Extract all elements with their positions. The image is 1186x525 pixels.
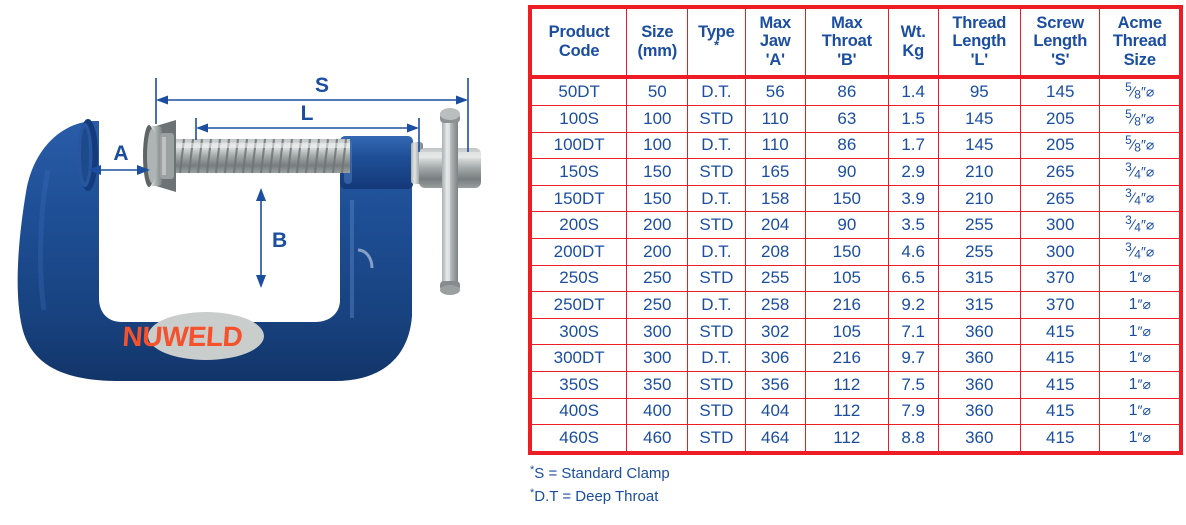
- table-row: 350S350STD3561127.53604151″⌀: [530, 371, 1181, 398]
- cell-product-code: 300S: [530, 318, 627, 345]
- cell-thread-length: 145: [938, 132, 1020, 159]
- cell-max-jaw: 356: [745, 371, 805, 398]
- cell-acme-thread: 3⁄4″⌀: [1100, 212, 1181, 239]
- footnotes: *S = Standard Clamp *D.T = Deep Throat: [530, 462, 950, 509]
- table-row: 200DT200D.T.2081504.62553003⁄4″⌀: [530, 238, 1181, 265]
- cell-max-throat: 90: [805, 212, 888, 239]
- cell-size: 200: [627, 238, 688, 265]
- cell-thread-length: 315: [938, 265, 1020, 292]
- cell-max-jaw: 255: [745, 265, 805, 292]
- cell-max-jaw: 258: [745, 292, 805, 319]
- cell-max-jaw: 404: [745, 398, 805, 425]
- table-row: 150DT150D.T.1581503.92102653⁄4″⌀: [530, 185, 1181, 212]
- cell-weight: 9.7: [888, 345, 938, 372]
- b-arrow-top: [256, 188, 266, 201]
- table-row: 400S400STD4041127.93604151″⌀: [530, 398, 1181, 425]
- acme-value: 5⁄8″⌀: [1125, 81, 1154, 101]
- hdr-line: Thread: [952, 14, 1006, 32]
- cell-screw-length: 265: [1020, 159, 1099, 186]
- hdr-line: 'B': [837, 51, 856, 69]
- cell-size: 250: [627, 292, 688, 319]
- hdr-line: Max: [759, 14, 791, 32]
- cell-screw-length: 300: [1020, 238, 1099, 265]
- cell-max-throat: 86: [805, 132, 888, 159]
- cell-size: 460: [627, 425, 688, 453]
- cell-screw-length: 415: [1020, 371, 1099, 398]
- hdr-line: Size: [641, 23, 673, 41]
- column-header-product-code: Product Code: [530, 7, 627, 77]
- acme-value: 1″⌀: [1129, 430, 1151, 446]
- table-row: 250S250STD2551056.53153701″⌀: [530, 265, 1181, 292]
- hdr-line: 'S': [1051, 51, 1069, 69]
- b-arrow-bottom: [256, 275, 266, 288]
- cell-max-jaw: 302: [745, 318, 805, 345]
- cell-product-code: 250DT: [530, 292, 627, 319]
- cell-acme-thread: 3⁄4″⌀: [1100, 185, 1181, 212]
- cell-max-throat: 86: [805, 77, 888, 105]
- cell-thread-length: 360: [938, 345, 1020, 372]
- cell-weight: 1.5: [888, 106, 938, 133]
- column-header-weight: Wt. Kg: [888, 7, 938, 77]
- cell-max-throat: 216: [805, 345, 888, 372]
- cell-thread-length: 95: [938, 77, 1020, 105]
- hdr-line: Screw: [1036, 14, 1084, 32]
- cell-thread-length: 210: [938, 159, 1020, 186]
- cell-type: D.T.: [688, 345, 745, 372]
- cell-type: D.T.: [688, 238, 745, 265]
- cell-size: 100: [627, 132, 688, 159]
- dim-label-b: B: [272, 229, 287, 252]
- cell-product-code: 300DT: [530, 345, 627, 372]
- cell-type: STD: [688, 106, 745, 133]
- cell-size: 200: [627, 212, 688, 239]
- table-row: 300DT300D.T.3062169.73604151″⌀: [530, 345, 1181, 372]
- cell-screw-length: 415: [1020, 345, 1099, 372]
- cell-acme-thread: 3⁄4″⌀: [1100, 159, 1181, 186]
- cell-max-throat: 105: [805, 265, 888, 292]
- cell-weight: 1.7: [888, 132, 938, 159]
- hdr-line: Max: [831, 14, 863, 32]
- acme-value: 3⁄4″⌀: [1125, 214, 1154, 234]
- hdr-line: Code: [559, 42, 599, 60]
- screw-thread: [158, 139, 350, 173]
- cell-thread-length: 315: [938, 292, 1020, 319]
- hdr-line: Thread: [1113, 32, 1167, 50]
- cell-acme-thread: 5⁄8″⌀: [1100, 77, 1181, 105]
- cell-max-throat: 112: [805, 398, 888, 425]
- cell-max-jaw: 56: [745, 77, 805, 105]
- cell-acme-thread: 1″⌀: [1100, 398, 1181, 425]
- cell-screw-length: 300: [1020, 212, 1099, 239]
- column-header-size: Size (mm): [627, 7, 688, 77]
- acme-value: 1″⌀: [1129, 403, 1151, 419]
- hdr-line: (mm): [638, 42, 678, 60]
- footnote-deep-throat: *D.T = Deep Throat: [530, 485, 950, 508]
- cell-acme-thread: 3⁄4″⌀: [1100, 238, 1181, 265]
- cell-size: 300: [627, 345, 688, 372]
- cell-screw-length: 415: [1020, 425, 1099, 453]
- table-row: 150S150STD165902.92102653⁄4″⌀: [530, 159, 1181, 186]
- cell-weight: 8.8: [888, 425, 938, 453]
- cell-thread-length: 360: [938, 425, 1020, 453]
- cell-size: 50: [627, 77, 688, 105]
- l-arrow-right: [407, 124, 419, 133]
- hdr-line: Size: [1124, 51, 1156, 69]
- cell-thread-length: 210: [938, 185, 1020, 212]
- column-header-max-jaw: Max Jaw 'A': [745, 7, 805, 77]
- cell-max-throat: 63: [805, 106, 888, 133]
- cell-product-code: 400S: [530, 398, 627, 425]
- specification-table: Product Code Size (mm) Type * Max Jaw 'A…: [528, 5, 1183, 455]
- cell-max-jaw: 204: [745, 212, 805, 239]
- cell-acme-thread: 1″⌀: [1100, 345, 1181, 372]
- cell-acme-thread: 1″⌀: [1100, 371, 1181, 398]
- hdr-line: 'A': [766, 51, 785, 69]
- table-row: 200S200STD204903.52553003⁄4″⌀: [530, 212, 1181, 239]
- acme-value: 1″⌀: [1129, 270, 1151, 286]
- cell-size: 150: [627, 185, 688, 212]
- cell-weight: 2.9: [888, 159, 938, 186]
- footnote-text: D.T = Deep Throat: [534, 488, 658, 505]
- cell-thread-length: 360: [938, 318, 1020, 345]
- table-row: 100S100STD110631.51452055⁄8″⌀: [530, 106, 1181, 133]
- cell-type: D.T.: [688, 77, 745, 105]
- cell-acme-thread: 1″⌀: [1100, 425, 1181, 453]
- cell-acme-thread: 5⁄8″⌀: [1100, 106, 1181, 133]
- acme-value: 1″⌀: [1129, 324, 1151, 340]
- cell-max-jaw: 158: [745, 185, 805, 212]
- acme-value: 5⁄8″⌀: [1125, 108, 1154, 128]
- table-row: 300S300STD3021057.13604151″⌀: [530, 318, 1181, 345]
- cell-acme-thread: 5⁄8″⌀: [1100, 132, 1181, 159]
- cell-size: 150: [627, 159, 688, 186]
- cell-screw-length: 205: [1020, 132, 1099, 159]
- cell-product-code: 200DT: [530, 238, 627, 265]
- cell-product-code: 150S: [530, 159, 627, 186]
- cell-type: STD: [688, 425, 745, 453]
- cell-size: 250: [627, 265, 688, 292]
- cell-screw-length: 415: [1020, 318, 1099, 345]
- hdr-line: Acme: [1118, 14, 1162, 32]
- cell-weight: 9.2: [888, 292, 938, 319]
- cell-screw-length: 415: [1020, 398, 1099, 425]
- column-header-type: Type *: [688, 7, 745, 77]
- fixed-jaw-pad: [78, 119, 99, 191]
- cell-product-code: 50DT: [530, 77, 627, 105]
- cell-max-jaw: 110: [745, 106, 805, 133]
- cell-max-jaw: 110: [745, 132, 805, 159]
- s-arrow-left: [156, 96, 168, 105]
- cell-type: D.T.: [688, 132, 745, 159]
- cell-acme-thread: 1″⌀: [1100, 292, 1181, 319]
- cell-weight: 3.5: [888, 212, 938, 239]
- table-row: 460S460STD4641128.83604151″⌀: [530, 425, 1181, 453]
- acme-value: 3⁄4″⌀: [1125, 241, 1154, 261]
- cell-type: D.T.: [688, 292, 745, 319]
- cell-type: STD: [688, 265, 745, 292]
- acme-value: 5⁄8″⌀: [1125, 134, 1154, 154]
- cell-type: STD: [688, 318, 745, 345]
- cell-acme-thread: 1″⌀: [1100, 265, 1181, 292]
- cell-type: STD: [688, 371, 745, 398]
- cell-type: D.T.: [688, 185, 745, 212]
- cell-type: STD: [688, 212, 745, 239]
- cell-max-throat: 105: [805, 318, 888, 345]
- table-row: 50DT50D.T.56861.4951455⁄8″⌀: [530, 77, 1181, 105]
- acme-value: 3⁄4″⌀: [1125, 187, 1154, 207]
- dim-label-s: S: [315, 74, 329, 97]
- cell-screw-length: 370: [1020, 292, 1099, 319]
- cell-thread-length: 255: [938, 238, 1020, 265]
- hdr-line: Length: [952, 32, 1006, 50]
- cell-max-throat: 150: [805, 238, 888, 265]
- cell-screw-length: 145: [1020, 77, 1099, 105]
- cell-weight: 3.9: [888, 185, 938, 212]
- acme-value: 1″⌀: [1129, 297, 1151, 313]
- cell-thread-length: 255: [938, 212, 1020, 239]
- cell-type: STD: [688, 398, 745, 425]
- dim-label-a: A: [113, 142, 128, 165]
- cell-thread-length: 360: [938, 398, 1020, 425]
- hdr-line: Length: [1033, 32, 1087, 50]
- header-row: Product Code Size (mm) Type * Max Jaw 'A…: [530, 7, 1181, 77]
- cell-product-code: 150DT: [530, 185, 627, 212]
- acme-value: 1″⌀: [1129, 377, 1151, 393]
- table-row: 100DT100D.T.110861.71452055⁄8″⌀: [530, 132, 1181, 159]
- cell-product-code: 200S: [530, 212, 627, 239]
- cell-max-jaw: 165: [745, 159, 805, 186]
- l-arrow-left: [196, 124, 208, 133]
- cell-product-code: 350S: [530, 371, 627, 398]
- hdr-line: Wt.: [901, 23, 926, 41]
- cell-thread-length: 360: [938, 371, 1020, 398]
- hdr-asterisk: *: [714, 37, 719, 52]
- cell-size: 400: [627, 398, 688, 425]
- cell-thread-length: 145: [938, 106, 1020, 133]
- cell-weight: 4.6: [888, 238, 938, 265]
- column-header-thread-length: Thread Length 'L': [938, 7, 1020, 77]
- acme-value: 1″⌀: [1129, 350, 1151, 366]
- s-arrow-right: [456, 96, 468, 105]
- cell-screw-length: 265: [1020, 185, 1099, 212]
- cell-screw-length: 205: [1020, 106, 1099, 133]
- hdr-line: Product: [549, 23, 610, 41]
- cell-product-code: 100S: [530, 106, 627, 133]
- cell-screw-length: 370: [1020, 265, 1099, 292]
- column-header-screw-length: Screw Length 'S': [1020, 7, 1099, 77]
- hdr-line: 'L': [971, 51, 988, 69]
- cell-product-code: 250S: [530, 265, 627, 292]
- cell-size: 300: [627, 318, 688, 345]
- cell-weight: 6.5: [888, 265, 938, 292]
- footnote-standard: *S = Standard Clamp: [530, 462, 950, 485]
- cell-type: STD: [688, 159, 745, 186]
- cell-acme-thread: 1″⌀: [1100, 318, 1181, 345]
- table-body: 50DT50D.T.56861.4951455⁄8″⌀100S100STD110…: [530, 77, 1181, 452]
- cell-weight: 7.5: [888, 371, 938, 398]
- cell-product-code: 100DT: [530, 132, 627, 159]
- cell-max-throat: 112: [805, 425, 888, 453]
- cell-weight: 7.1: [888, 318, 938, 345]
- hdr-line: Throat: [822, 32, 872, 50]
- clamp-diagram: NUWELD S L A B: [0, 0, 525, 525]
- cell-max-jaw: 306: [745, 345, 805, 372]
- brand-logo-text: NUWELD: [121, 321, 243, 352]
- cell-max-jaw: 464: [745, 425, 805, 453]
- cell-max-throat: 216: [805, 292, 888, 319]
- footnote-text: S = Standard Clamp: [534, 465, 670, 482]
- swivel-pad: [143, 120, 176, 192]
- table-row: 250DT250D.T.2582169.23153701″⌀: [530, 292, 1181, 319]
- cell-size: 350: [627, 371, 688, 398]
- cell-size: 100: [627, 106, 688, 133]
- cell-max-jaw: 208: [745, 238, 805, 265]
- acme-value: 3⁄4″⌀: [1125, 161, 1154, 181]
- cell-max-throat: 112: [805, 371, 888, 398]
- table-header: Product Code Size (mm) Type * Max Jaw 'A…: [530, 7, 1181, 77]
- t-handle: [411, 108, 481, 295]
- cell-product-code: 460S: [530, 425, 627, 453]
- dim-label-l: L: [301, 102, 314, 125]
- column-header-acme-thread: Acme Thread Size: [1100, 7, 1181, 77]
- specification-panel: Product Code Size (mm) Type * Max Jaw 'A…: [528, 5, 1183, 455]
- hdr-line: Jaw: [760, 32, 791, 50]
- cell-max-throat: 90: [805, 159, 888, 186]
- cell-weight: 1.4: [888, 77, 938, 105]
- clamp-head-block: [340, 136, 413, 189]
- cell-weight: 7.9: [888, 398, 938, 425]
- hdr-line: Kg: [902, 42, 924, 60]
- cell-max-throat: 150: [805, 185, 888, 212]
- column-header-max-throat: Max Throat 'B': [805, 7, 888, 77]
